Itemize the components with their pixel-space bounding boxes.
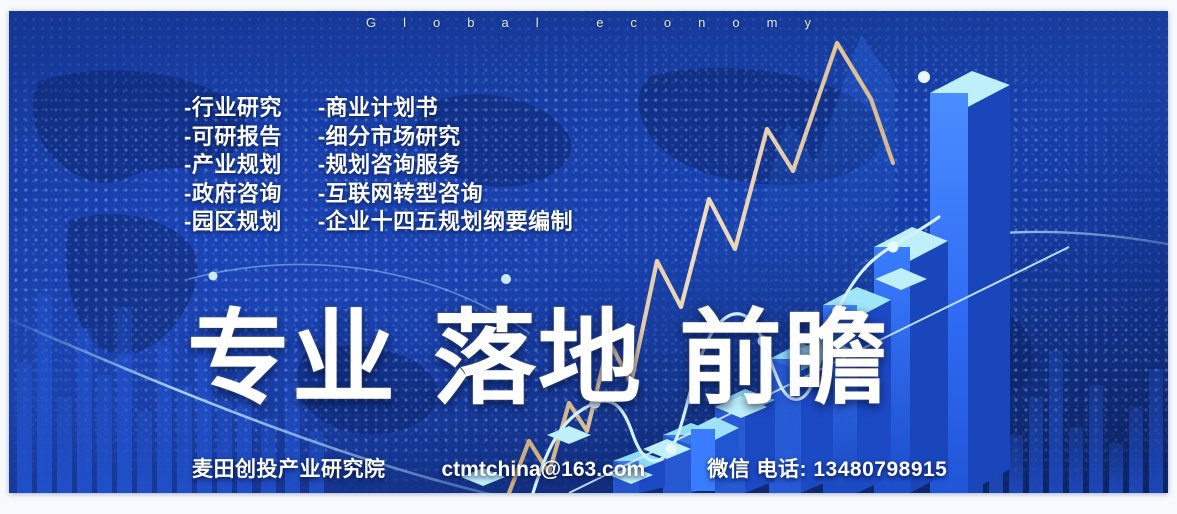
service-item: -互联网转型咨询 — [318, 180, 573, 209]
service-item: -产业规划 — [184, 151, 282, 180]
service-item: -细分市场研究 — [318, 123, 573, 152]
services-column-left: -行业研究 -可研报告 -产业规划 -政府咨询 -园区规划 — [184, 94, 282, 237]
service-item: -园区规划 — [184, 208, 282, 237]
kicker-text: Global economy — [9, 15, 1168, 30]
slogan-word-1: 专业 — [187, 301, 397, 416]
service-item: -行业研究 — [184, 94, 282, 123]
service-item: -政府咨询 — [184, 180, 282, 209]
economy-growth-chart — [9, 11, 1168, 493]
service-item: -规划咨询服务 — [318, 151, 573, 180]
contact-phone: 微信 电话: 13480798915 — [707, 453, 947, 483]
service-item: -可研报告 — [184, 123, 282, 152]
slogan: 专业落地前瞻 — [187, 307, 889, 410]
slogan-word-2: 落地 — [433, 301, 643, 416]
services-column-right: -商业计划书 -细分市场研究 -规划咨询服务 -互联网转型咨询 -企业十四五规划… — [318, 94, 573, 237]
slogan-word-3: 前瞻 — [679, 301, 889, 416]
promo-banner: Global economy -行业研究 -可研报告 -产业规划 -政府咨询 -… — [9, 11, 1168, 493]
footer-contact-bar: 麦田创投产业研究院 ctmtchina@163.com 微信 电话: 13480… — [192, 453, 947, 483]
service-item: -商业计划书 — [318, 94, 573, 123]
services-lists: -行业研究 -可研报告 -产业规划 -政府咨询 -园区规划 -商业计划书 -细分… — [184, 94, 573, 237]
company-name: 麦田创投产业研究院 — [192, 453, 386, 483]
service-item: -企业十四五规划纲要编制 — [318, 208, 573, 237]
email-address[interactable]: ctmtchina@163.com — [442, 458, 646, 482]
